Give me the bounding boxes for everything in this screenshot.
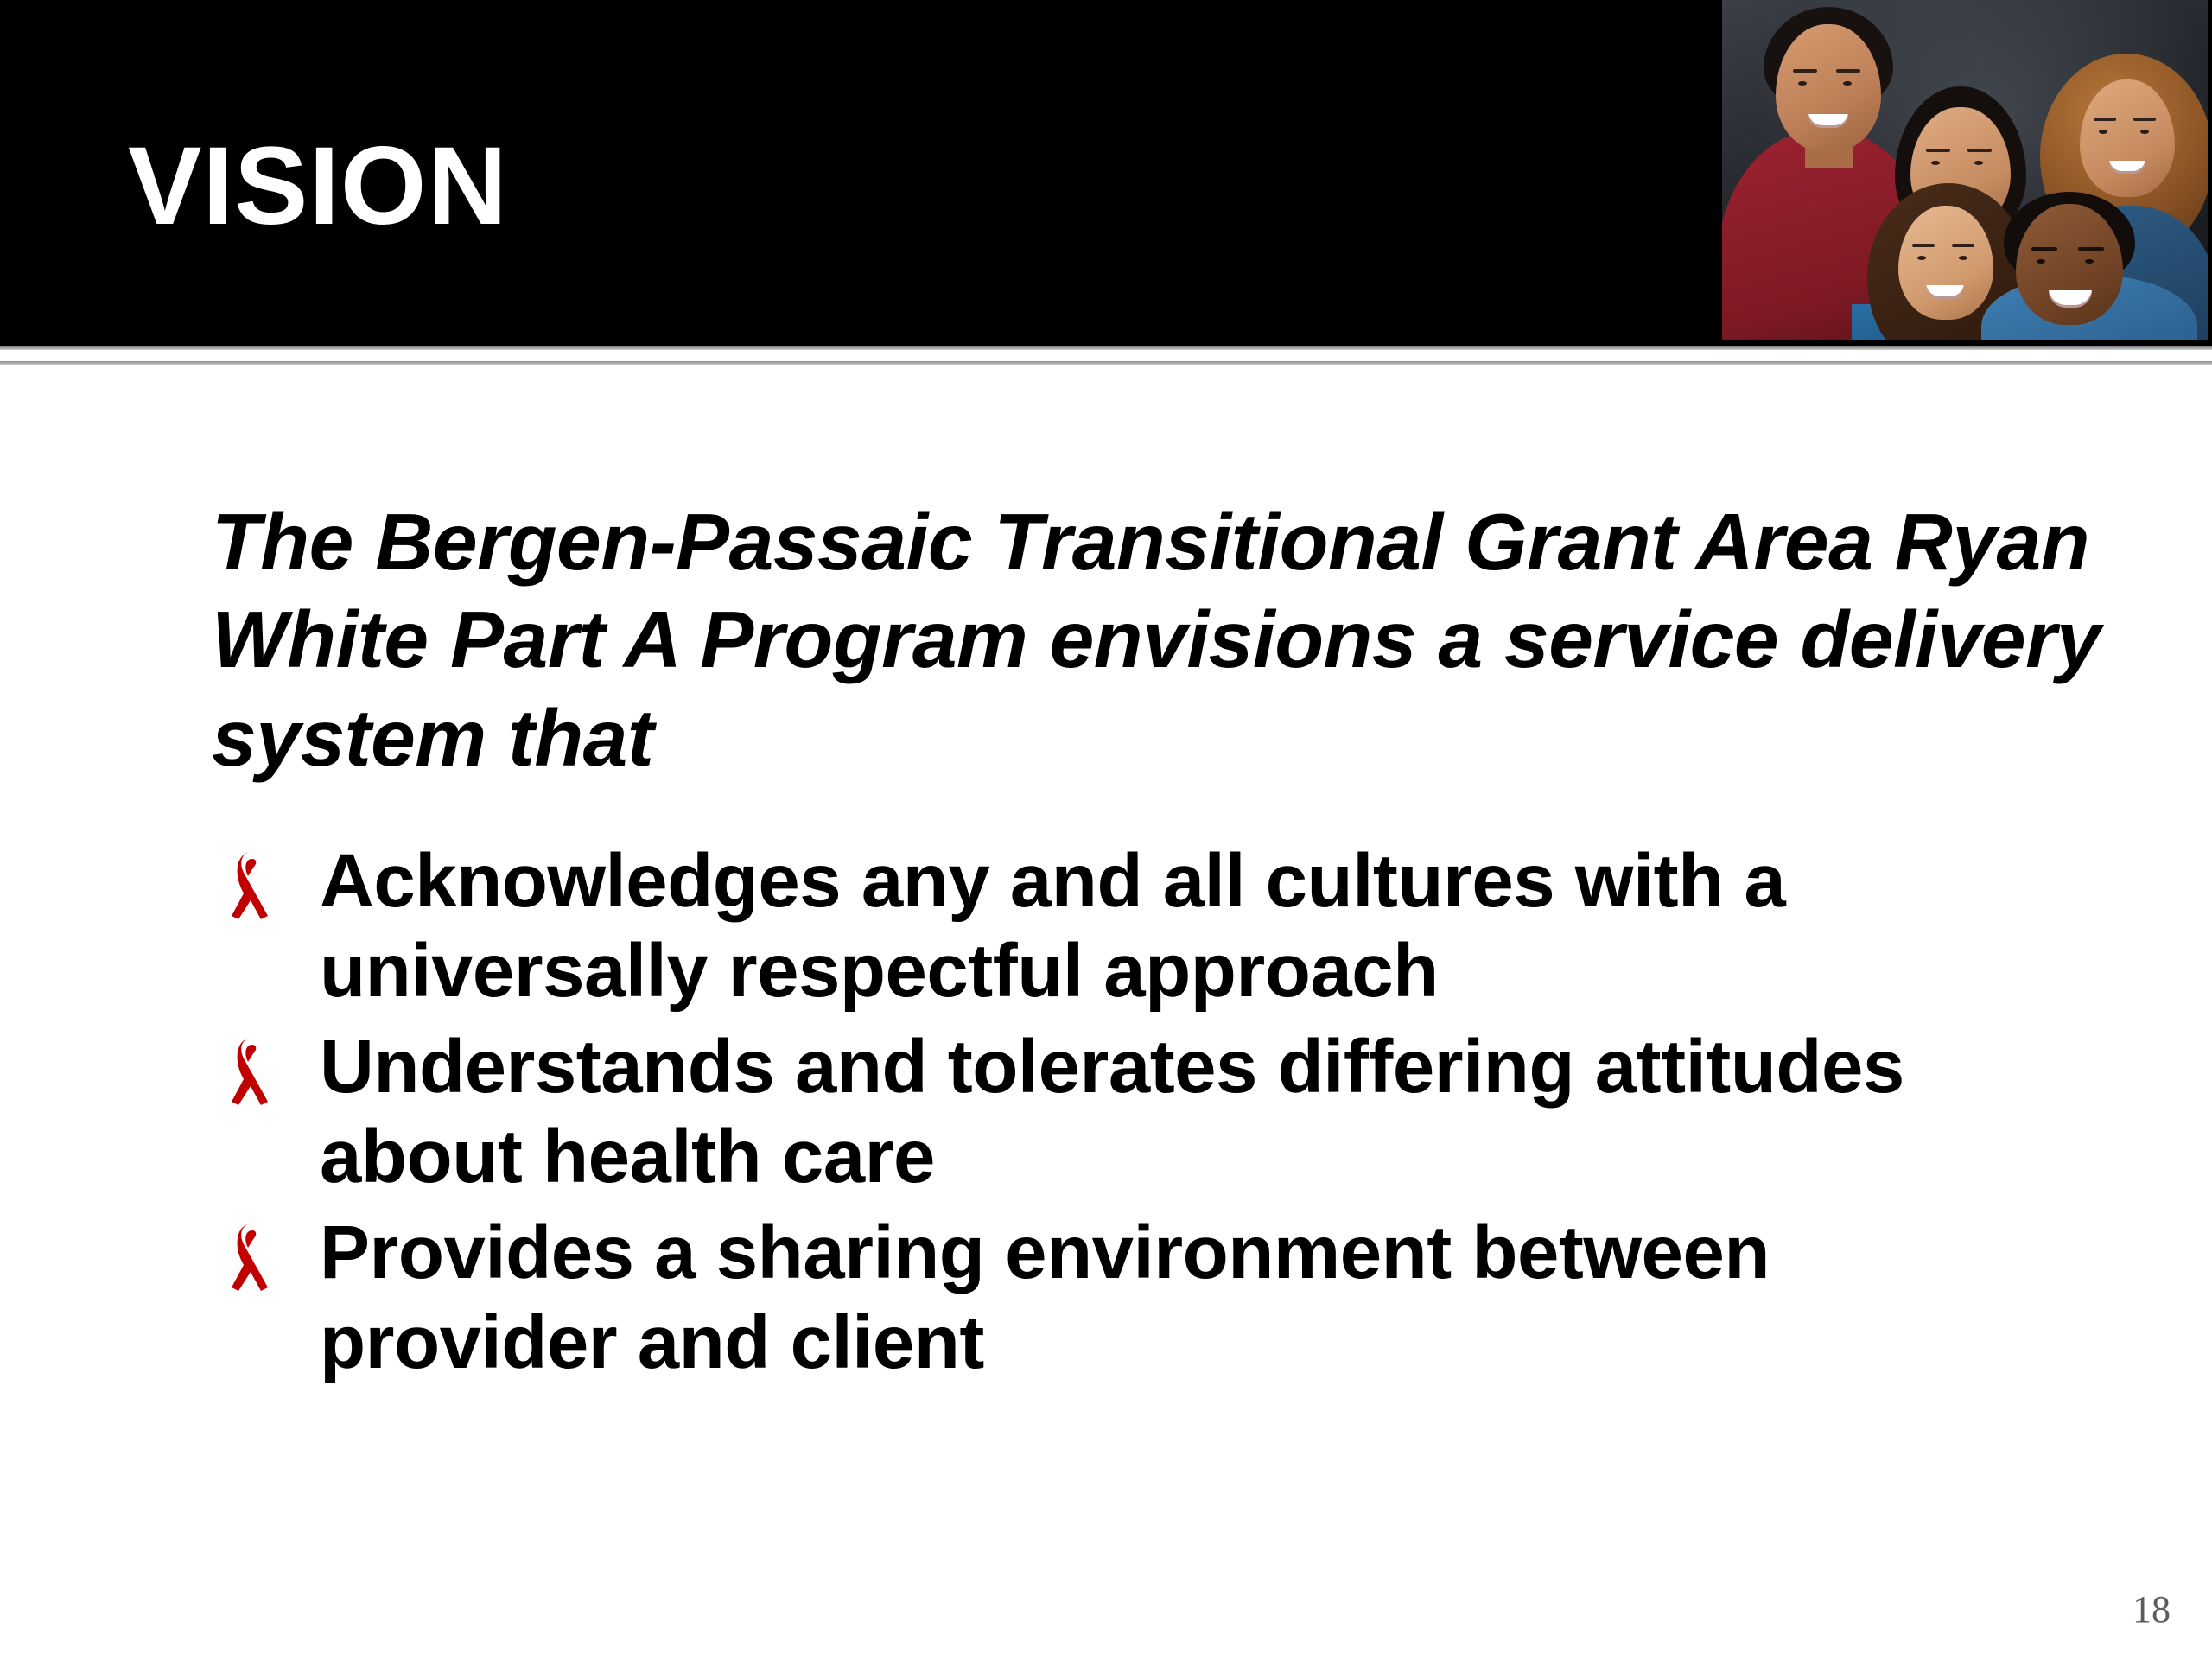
red-aids-ribbon-icon: [226, 847, 278, 923]
group-portrait-photo: [1722, 0, 2208, 340]
list-item: Provides a sharing environment between p…: [226, 1208, 2127, 1389]
list-item: Understands and tolerates differing atti…: [226, 1022, 2127, 1203]
red-aids-ribbon-icon: [226, 1218, 278, 1294]
page-title: VISION: [128, 131, 508, 242]
person-4-face: [1898, 206, 1993, 320]
list-item: Acknowledges any and all cultures with a…: [226, 836, 2127, 1017]
person-5-face: [2016, 204, 2123, 325]
list-item-label: Provides a sharing environment between p…: [320, 1208, 2031, 1389]
bullet-list: Acknowledges any and all cultures with a…: [226, 836, 2127, 1393]
intro-paragraph: The Bergen-Passaic Transitional Grant Ar…: [212, 493, 2113, 787]
list-item-label: Acknowledges any and all cultures with a…: [320, 836, 2031, 1017]
person-3-face: [2080, 79, 2175, 197]
person-1-face: [1776, 24, 1881, 152]
slide-header: VISION: [0, 0, 2212, 346]
list-item-label: Understands and tolerates differing atti…: [320, 1022, 2031, 1203]
header-divider-lower: [0, 361, 2212, 365]
red-aids-ribbon-icon: [226, 1033, 278, 1109]
header-divider-upper: [0, 346, 2212, 350]
slide: VISION: [0, 0, 2212, 1659]
page-number: 18: [2133, 1587, 2171, 1631]
